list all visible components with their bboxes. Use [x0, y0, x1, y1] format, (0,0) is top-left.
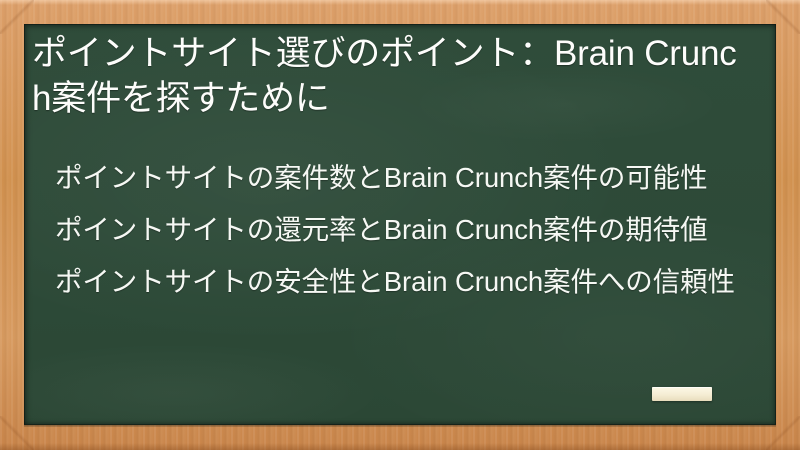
frame-top-highlight	[0, 0, 800, 5]
chalkboard-surface: ポイントサイト選びのポイント：Brain Crunch案件を探すために ポイント…	[24, 24, 776, 425]
list-item: ポイントサイトの安全性とBrain Crunch案件への信頼性	[32, 262, 752, 302]
frame-bottom-shade	[0, 443, 800, 450]
list-item: ポイントサイトの還元率とBrain Crunch案件の期待値	[32, 210, 752, 250]
list-item: ポイントサイトの案件数とBrain Crunch案件の可能性	[32, 158, 752, 198]
blackboard-card: ポイントサイト選びのポイント：Brain Crunch案件を探すために ポイント…	[0, 0, 800, 450]
board-ledge-shadow	[24, 424, 776, 427]
page-title: ポイントサイト選びのポイント：Brain Crunch案件を探すために	[32, 31, 748, 121]
outline-list: ポイントサイトの案件数とBrain Crunch案件の可能性 ポイントサイトの還…	[32, 158, 752, 302]
chalk-stick-icon	[652, 387, 712, 401]
